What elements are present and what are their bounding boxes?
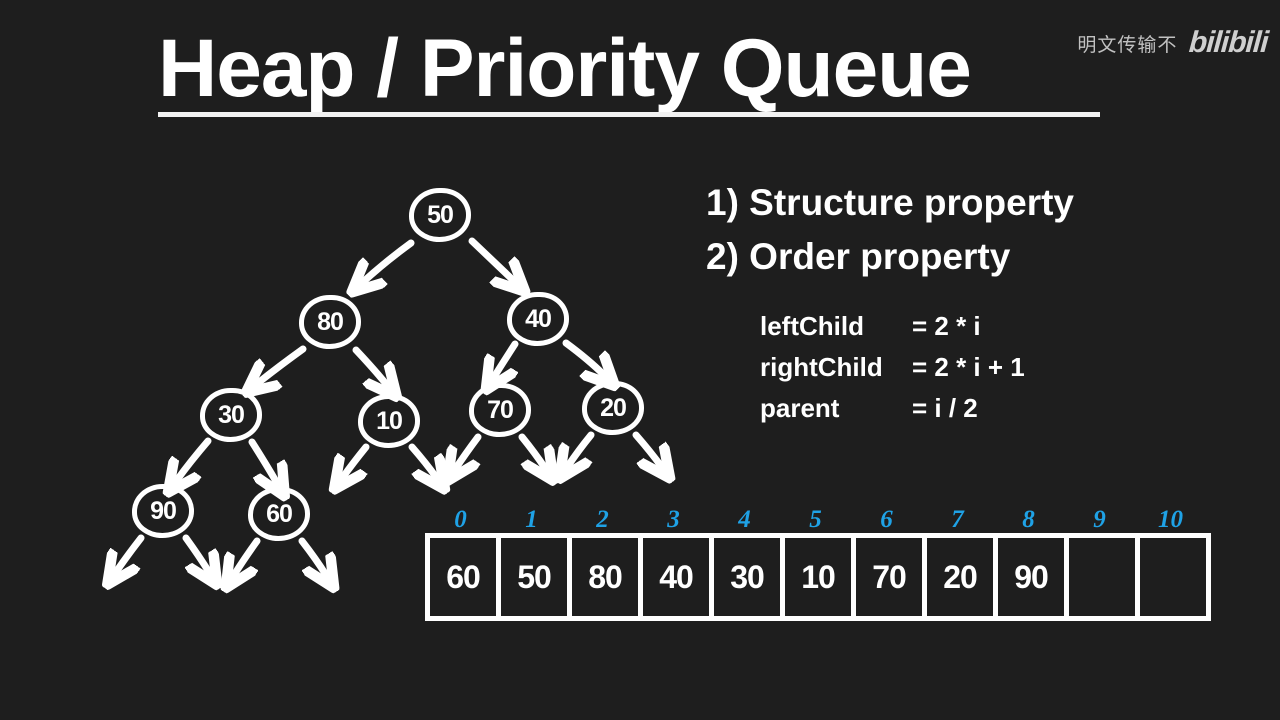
array-cell-row: 60 50 80 40 30 10 70 20: [425, 533, 1211, 621]
edge-40-70: [494, 344, 515, 377]
formula-expr-parent: = i / 2: [912, 388, 978, 429]
array-index-9: 9: [1064, 507, 1135, 533]
edge-40-20: [566, 343, 604, 375]
title-underline: [158, 112, 1100, 117]
tree-node-label: 30: [218, 403, 244, 428]
array-cell-value: 90: [1014, 561, 1048, 593]
edge-30-90: [177, 441, 208, 480]
array-cell-1[interactable]: 50: [501, 538, 572, 616]
tree-node-30[interactable]: 30: [200, 388, 262, 442]
title-block: Heap / Priority Queue: [158, 24, 1108, 120]
edge-stub-90-right: [186, 538, 209, 572]
array-cell-value: 60: [446, 561, 480, 593]
watermark: 明文传输不 bilibili: [1077, 26, 1268, 60]
array-cell-3[interactable]: 40: [643, 538, 714, 616]
array-cell-value: 30: [730, 561, 764, 593]
array-index-10: 10: [1135, 507, 1206, 533]
formula-name-parent: parent: [760, 388, 912, 429]
formula-row-leftchild: leftChild = 2 * i: [760, 306, 1180, 347]
formula-name-leftchild: leftChild: [760, 306, 912, 347]
edge-stub-10-left: [343, 447, 366, 477]
tree-node-10[interactable]: 10: [358, 394, 420, 448]
note-item-structure-property: 1) Structure property: [706, 176, 1206, 230]
formula-row-rightchild: rightChild = 2 * i + 1: [760, 347, 1180, 388]
formula-row-parent: parent = i / 2: [760, 388, 1180, 429]
array-cell-value: 70: [872, 561, 906, 593]
array-cell-2[interactable]: 80: [572, 538, 643, 616]
formula-block: leftChild = 2 * i rightChild = 2 * i + 1…: [760, 306, 1180, 429]
array-cell-9[interactable]: [1069, 538, 1140, 616]
tree-node-label: 50: [427, 203, 453, 228]
array-cell-7[interactable]: 20: [927, 538, 998, 616]
array-representation: 0 1 2 3 4 5 6 7 8 9 10 60 50 80 40: [425, 533, 1211, 621]
edge-stub-60-left: [234, 541, 257, 575]
edge-stub-60-right: [302, 541, 326, 575]
tree-node-label: 80: [317, 310, 343, 335]
edge-80-30: [258, 349, 303, 383]
tree-node-label: 60: [266, 502, 292, 527]
edge-stub-70-left: [456, 437, 478, 468]
slide-canvas: Heap / Priority Queue 明文传输不 bilibili 1) …: [0, 0, 1280, 720]
array-index-3: 3: [638, 507, 709, 533]
array-cell-value: 40: [659, 561, 693, 593]
tree-node-label: 70: [487, 398, 513, 423]
edge-50-40: [472, 241, 514, 281]
watermark-text: 明文传输不: [1077, 30, 1177, 57]
tree-node-60[interactable]: 60: [248, 487, 310, 541]
formula-name-rightchild: rightChild: [760, 347, 912, 388]
array-cell-value: 20: [943, 561, 977, 593]
tree-node-90[interactable]: 90: [132, 484, 194, 538]
array-cell-8[interactable]: 90: [998, 538, 1069, 616]
edge-stub-20-right: [636, 435, 661, 466]
edge-30-60: [252, 442, 277, 483]
tree-node-70[interactable]: 70: [469, 383, 531, 437]
array-cell-5[interactable]: 10: [785, 538, 856, 616]
array-index-6: 6: [851, 507, 922, 533]
tree-node-40[interactable]: 40: [507, 292, 569, 346]
edge-stub-20-left: [568, 435, 591, 466]
edge-50-80: [363, 243, 411, 282]
edge-80-10: [356, 350, 387, 385]
array-cell-10[interactable]: [1140, 538, 1211, 616]
array-cell-value: 80: [588, 561, 622, 593]
tree-node-label: 90: [150, 499, 176, 524]
bilibili-logo: bilibili: [1188, 26, 1269, 60]
tree-node-20[interactable]: 20: [582, 381, 644, 435]
array-index-row: 0 1 2 3 4 5 6 7 8 9 10: [425, 507, 1206, 533]
array-index-1: 1: [496, 507, 567, 533]
array-index-8: 8: [993, 507, 1064, 533]
array-cell-4[interactable]: 30: [714, 538, 785, 616]
array-index-4: 4: [709, 507, 780, 533]
array-index-0: 0: [425, 507, 496, 533]
edge-stub-90-left: [116, 538, 141, 572]
tree-node-80[interactable]: 80: [299, 295, 361, 349]
formula-expr-leftchild: = 2 * i: [912, 306, 981, 347]
array-index-5: 5: [780, 507, 851, 533]
array-cell-value: 10: [801, 561, 835, 593]
formula-expr-rightchild: = 2 * i + 1: [912, 347, 1025, 388]
edge-stub-10-right: [412, 447, 436, 477]
page-title: Heap / Priority Queue: [158, 24, 1108, 114]
edge-stub-70-right: [522, 437, 545, 468]
notes-list: 1) Structure property 2) Order property: [706, 176, 1206, 284]
array-cell-6[interactable]: 70: [856, 538, 927, 616]
tree-node-50[interactable]: 50: [409, 188, 471, 242]
array-cell-0[interactable]: 60: [430, 538, 501, 616]
note-item-order-property: 2) Order property: [706, 230, 1206, 284]
array-index-7: 7: [922, 507, 993, 533]
tree-node-label: 40: [525, 307, 551, 332]
array-cell-value: 50: [517, 561, 551, 593]
tree-node-label: 10: [376, 409, 402, 434]
tree-node-label: 20: [600, 396, 626, 421]
array-index-2: 2: [567, 507, 638, 533]
